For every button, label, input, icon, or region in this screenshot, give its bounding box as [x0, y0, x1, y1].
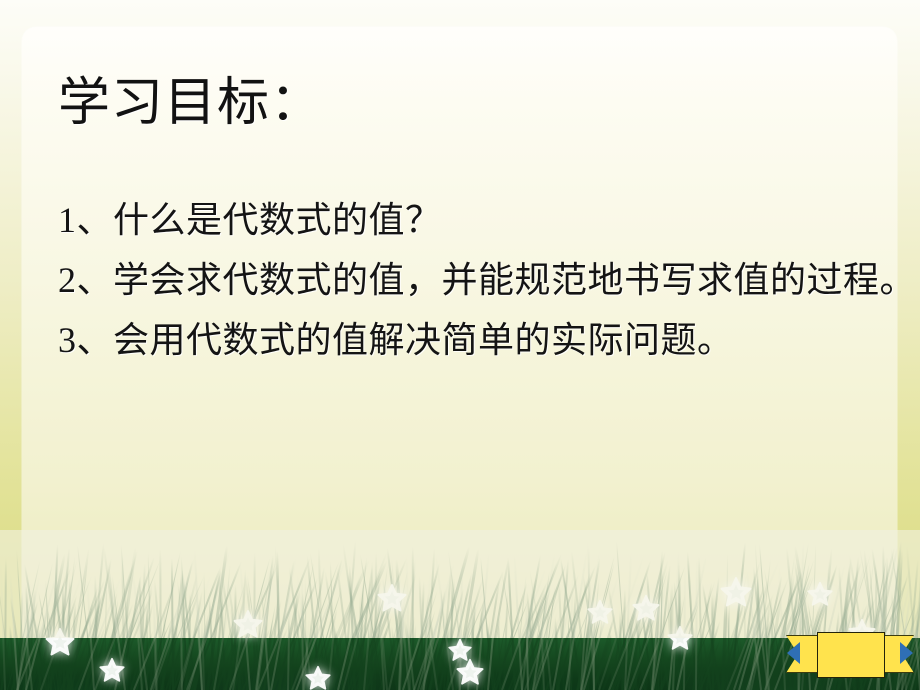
grass-blades-layer	[0, 530, 920, 690]
star-flower-icon	[448, 638, 472, 662]
objective-item-3: 3、会用代数式的值解决简单的实际问题。	[58, 310, 894, 370]
objective-item-1: 1、什么是代数式的值？	[58, 190, 894, 250]
star-flower-icon	[233, 609, 263, 639]
star-flower-icon	[632, 594, 660, 622]
star-flower-icon	[456, 658, 484, 686]
star-flower-icon	[667, 625, 693, 651]
grass-decoration	[0, 530, 920, 690]
slide-navigation-ribbon[interactable]	[786, 632, 914, 676]
home-slide-button[interactable]	[817, 632, 885, 678]
page-title: 学习目标：	[58, 74, 323, 134]
star-flower-icon	[807, 581, 833, 607]
presentation-slide: 学习目标： 1、什么是代数式的值？ 2、学会求代数式的值，并能规范地书写求值的过…	[0, 0, 920, 690]
star-flower-icon	[305, 665, 331, 690]
star-flower-icon	[377, 583, 407, 613]
chevron-left-icon[interactable]	[787, 642, 800, 664]
star-flower-icon	[45, 627, 75, 657]
star-flower-icon	[99, 657, 125, 683]
objective-list: 1、什么是代数式的值？ 2、学会求代数式的值，并能规范地书写求值的过程。 3、会…	[58, 190, 894, 370]
chevron-right-icon[interactable]	[900, 642, 913, 664]
objective-item-2: 2、学会求代数式的值，并能规范地书写求值的过程。	[58, 250, 894, 310]
star-flower-icon	[587, 599, 613, 625]
star-flower-icon	[720, 576, 752, 608]
